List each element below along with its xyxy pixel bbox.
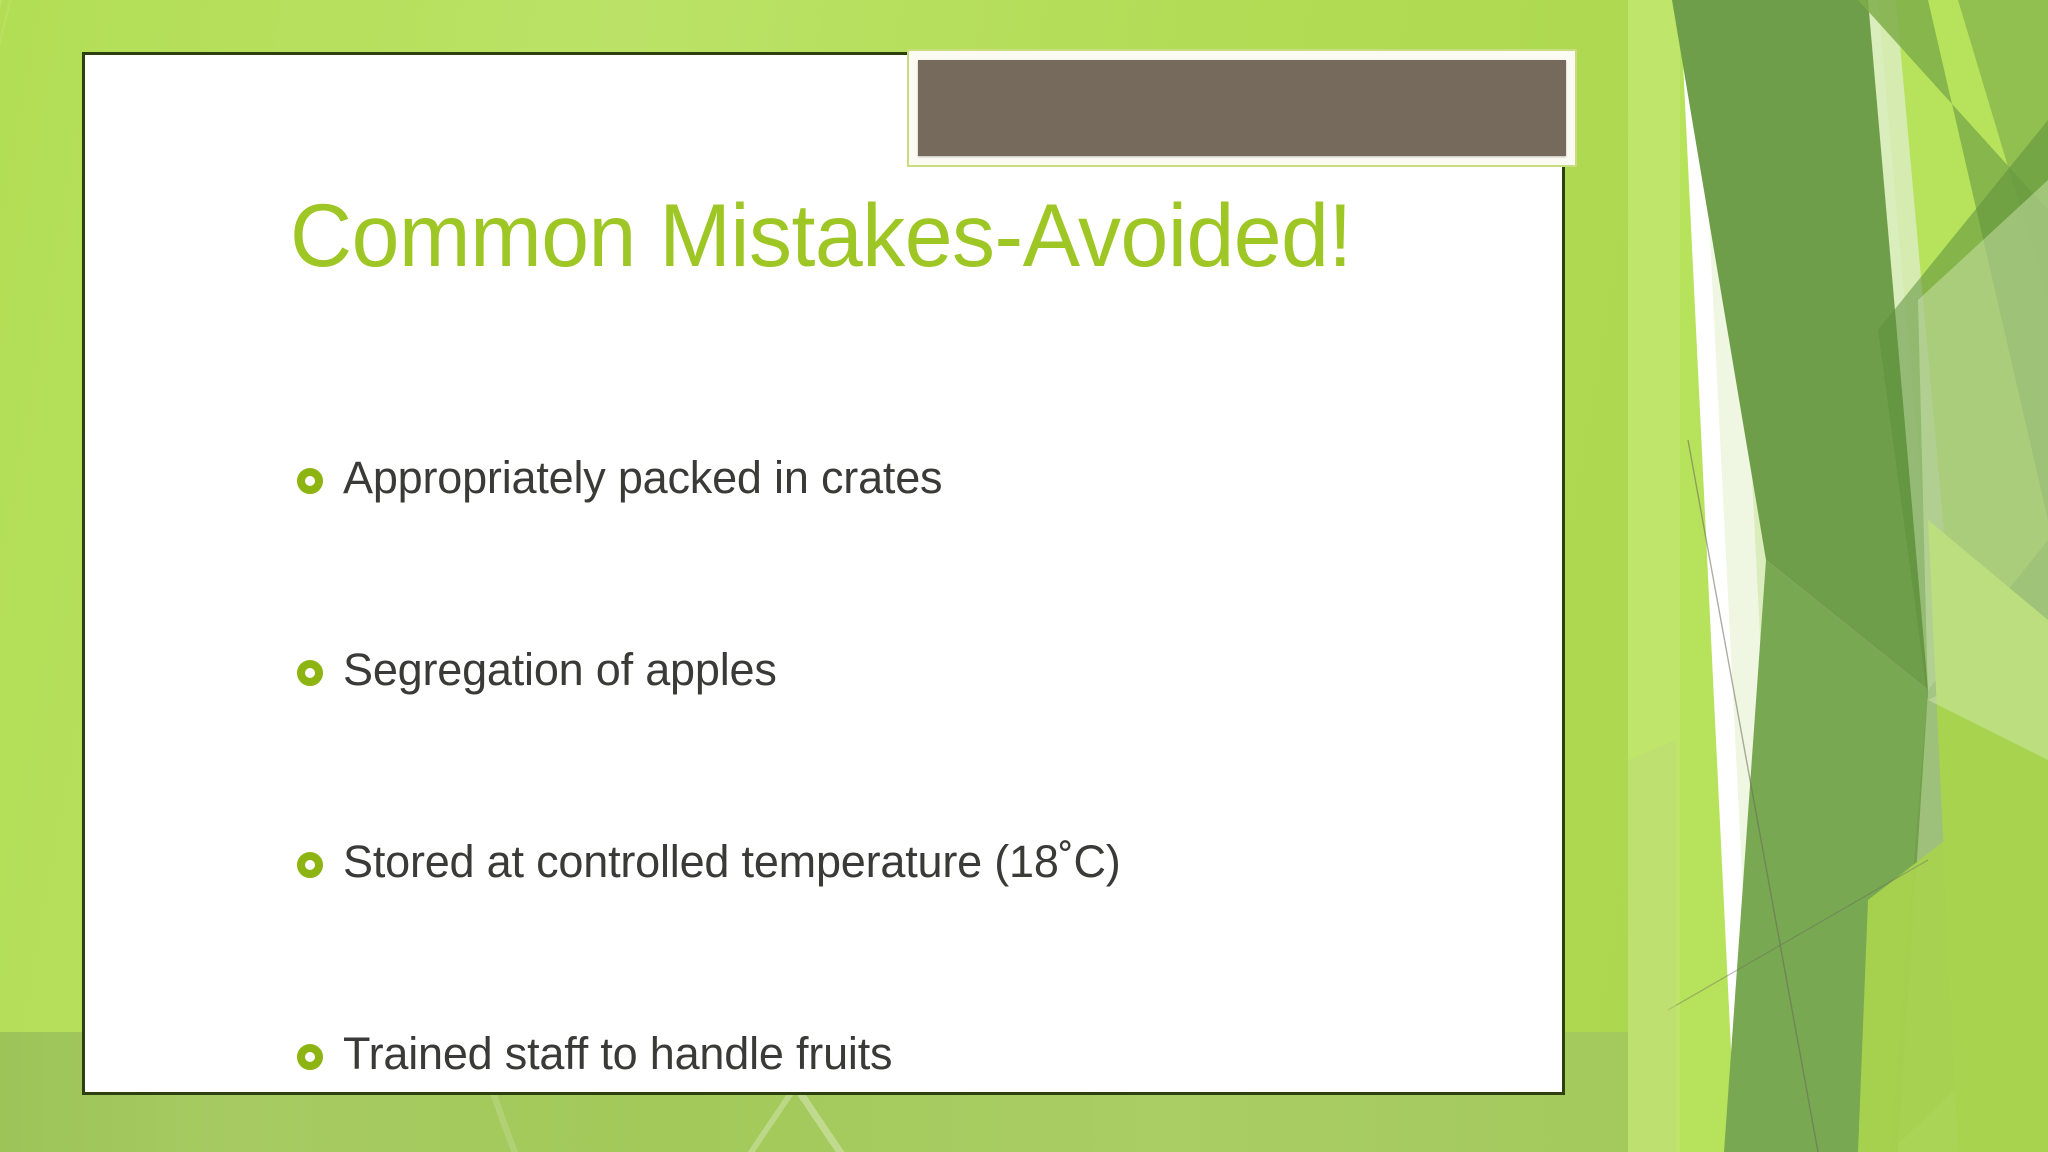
list-item: Trained staff to handle fruits	[297, 1023, 1557, 1085]
list-item-label: Trained staff to handle fruits	[343, 1030, 892, 1077]
page-title: Common Mistakes-Avoided!	[290, 191, 1590, 280]
list-item: Stored at controlled temperature (18˚C)	[297, 831, 1557, 893]
list-item-label: Stored at controlled temperature (18˚C)	[343, 838, 1121, 885]
ring-bullet-icon	[297, 1044, 323, 1070]
image-placeholder	[918, 60, 1566, 156]
bullet-list: Appropriately packed in crates Segregati…	[297, 447, 1557, 1152]
list-item-label: Segregation of apples	[343, 646, 777, 693]
presentation-slide: Common Mistakes-Avoided! Appropriately p…	[0, 0, 2048, 1152]
slide-content-card: Common Mistakes-Avoided! Appropriately p…	[82, 52, 1565, 1095]
angular-green-polygon-panel	[1628, 0, 2048, 1152]
ring-bullet-icon	[297, 660, 323, 686]
list-item: Segregation of apples	[297, 639, 1557, 701]
polygon-artwork	[1628, 0, 2048, 1152]
list-item: Appropriately packed in crates	[297, 447, 1557, 509]
ring-bullet-icon	[297, 468, 323, 494]
image-placeholder-frame	[907, 49, 1577, 167]
list-item-label: Appropriately packed in crates	[343, 454, 942, 501]
ring-bullet-icon	[297, 852, 323, 878]
